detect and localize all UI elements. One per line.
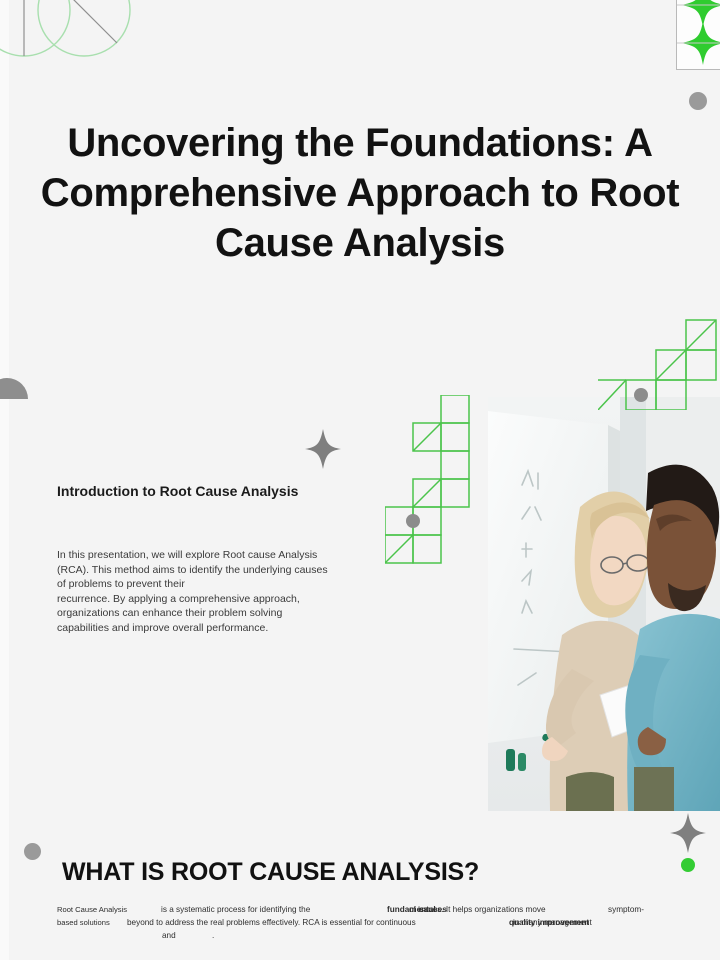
intro-body: In this presentation, we will explore Ro… — [57, 548, 329, 636]
section-run-1: Root Cause Analysis — [57, 903, 127, 916]
top-left-circles-decoration — [0, 0, 144, 72]
section-run-8: beyond to address the real problems effe… — [127, 916, 416, 929]
intro-paragraph-1: In this presentation, we will explore Ro… — [57, 548, 329, 592]
section-run-2: is a systematic process for identifying … — [161, 903, 310, 916]
section-run-7: based solutions — [57, 916, 110, 929]
bottom-left-gray-dot — [24, 843, 41, 860]
section-run-12: and — [162, 929, 176, 942]
presentation-slide: Uncovering the Foundations: A Comprehens… — [0, 0, 720, 960]
intro-paragraph-2: recurrence. By applying a comprehensive … — [57, 592, 329, 636]
left-half-circle-decoration — [0, 378, 28, 399]
page-title: Uncovering the Foundations: A Comprehens… — [40, 118, 680, 268]
section-run-6: symptom- — [608, 903, 644, 916]
top-right-star-box-decoration — [676, 0, 720, 70]
bottom-right-star-icon — [669, 812, 707, 859]
center-star-icon — [304, 428, 342, 475]
section-heading: WHAT IS ROOT CAUSE ANALYSIS? — [62, 858, 479, 887]
bottom-right-green-dot — [681, 858, 695, 872]
section-run-11: in many management — [513, 916, 592, 929]
section-paragraph: Root Cause Analysis is a systematic proc… — [57, 903, 677, 955]
staircase-decoration-right — [598, 318, 720, 415]
top-right-gray-dot — [689, 92, 707, 110]
left-edge-strip — [0, 0, 9, 960]
intro-heading: Introduction to Root Cause Analysis — [57, 481, 327, 502]
section-run-5: of issues. It helps organizations move — [409, 903, 546, 916]
staircase-decoration-left — [385, 395, 497, 590]
section-run-13: . — [212, 929, 214, 942]
whiteboard-photo — [488, 397, 720, 811]
